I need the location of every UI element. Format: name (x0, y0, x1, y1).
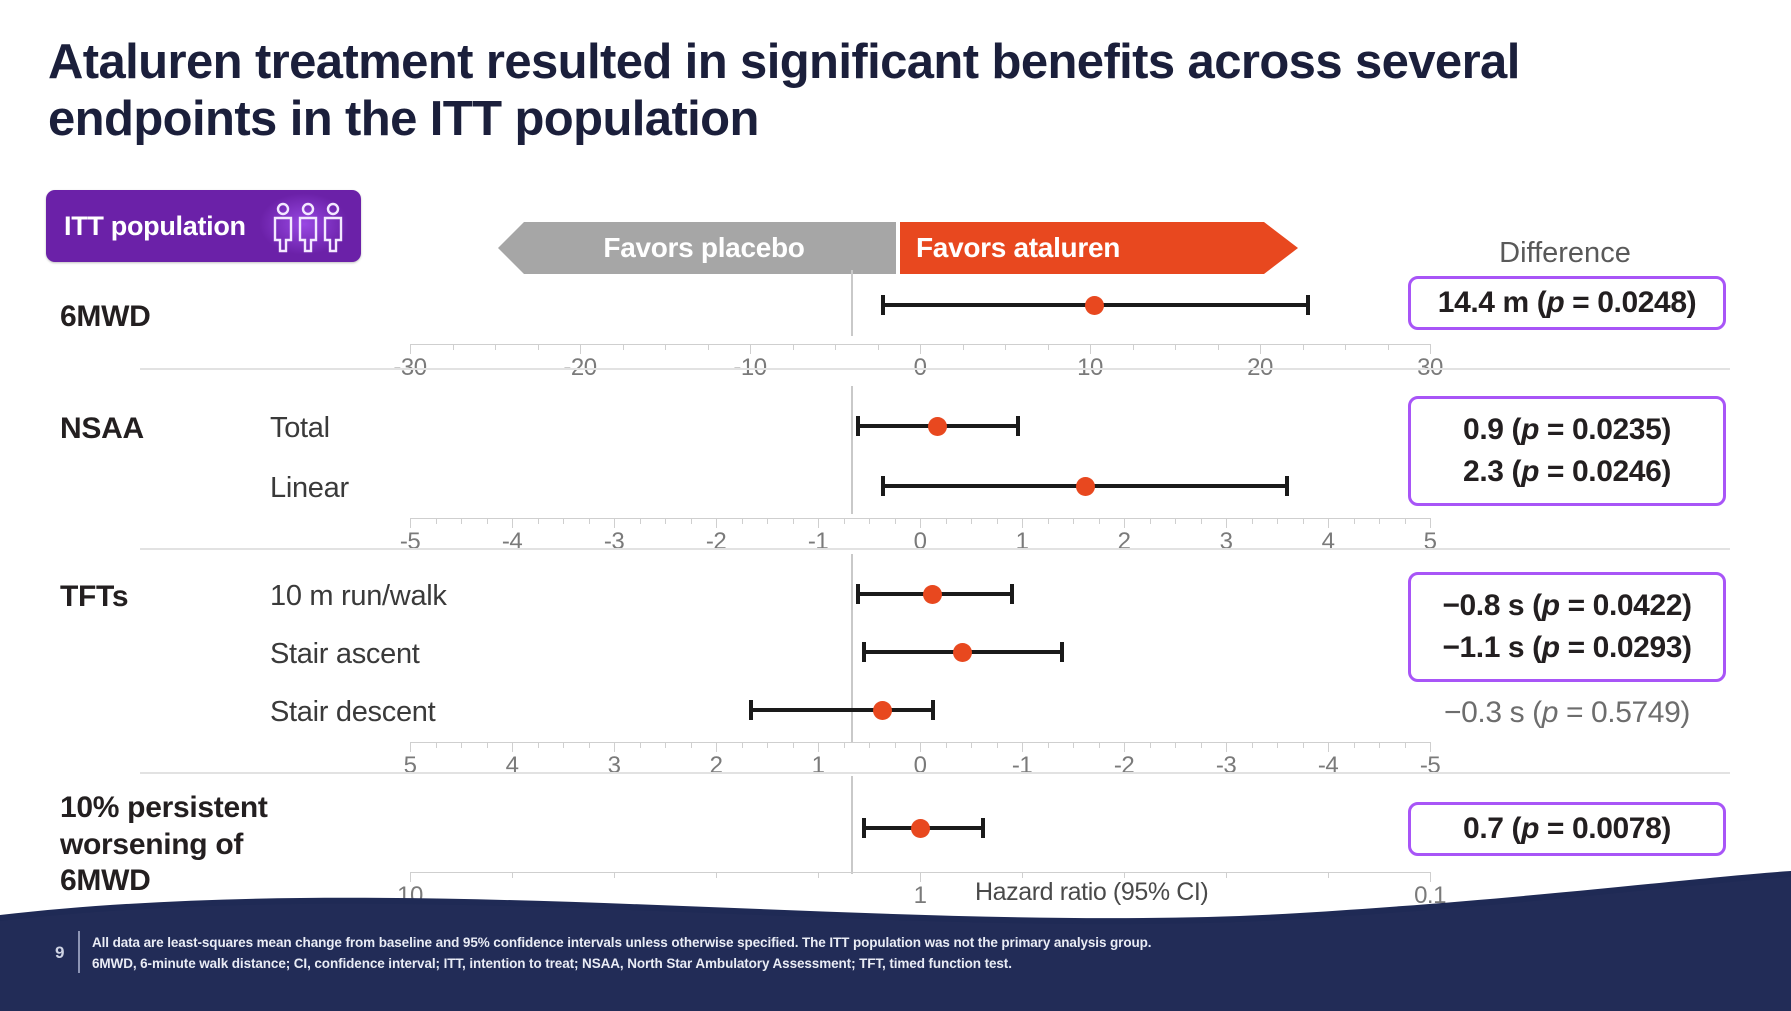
difference-value-6mwd: 14.4 m (p = 0.0248) (1438, 286, 1696, 320)
axis-minor-tick (538, 742, 539, 748)
favors-placebo-arrow: Favors placebo (498, 222, 896, 274)
axis-minor-tick (767, 518, 768, 524)
axis-minor-tick (971, 742, 972, 748)
axis-minor-tick (495, 344, 496, 350)
axis-minor-tick (971, 518, 972, 524)
reference-line (851, 776, 853, 874)
axis-minor-tick (1379, 742, 1380, 748)
axis-minor-tick (946, 742, 947, 748)
point-estimate-marker (923, 585, 942, 604)
axis-minor-tick (1150, 742, 1151, 748)
axis-tick-label: -5 (1420, 752, 1440, 780)
axis-minor-tick (1277, 742, 1278, 748)
axis-tick-label: 2 (710, 752, 723, 780)
axis-minor-tick (844, 518, 845, 524)
axis-tick-label: 2 (1118, 528, 1131, 556)
axis-tick (1226, 518, 1227, 528)
axis-minor-tick (835, 344, 836, 350)
axis-minor-tick (1175, 518, 1176, 524)
axis-minor-tick (640, 518, 641, 524)
axis-tick (512, 518, 513, 528)
difference-value-nsaa-total: 0.9 (p = 0.0235) (1463, 413, 1671, 447)
axis-minor-tick (869, 742, 870, 748)
difference-box-tfts: −0.8 s (p = 0.0422) −1.1 s (p = 0.0293) (1408, 572, 1726, 682)
section-separator-2 (140, 548, 1730, 550)
footnote: All data are least-squares mean change f… (92, 933, 1292, 975)
footnote-line-2: 6MWD, 6-minute walk distance; CI, confid… (92, 954, 1292, 975)
difference-box-hazard: 0.7 (p = 0.0078) (1408, 802, 1726, 856)
axis-tick-label: -2 (1114, 752, 1134, 780)
section-separator-1 (140, 368, 1730, 370)
axis-tick-label: -5 (400, 528, 420, 556)
zero-line (851, 554, 853, 742)
axis-tick-label: 0 (914, 528, 927, 556)
axis-minor-tick (878, 344, 879, 350)
axis-minor-tick (742, 742, 743, 748)
axis-minor-tick (1405, 742, 1406, 748)
axis-tick-label: -1 (808, 528, 828, 556)
ci-cap-low (749, 700, 753, 720)
axis-tick (1328, 742, 1329, 752)
axis-tick (716, 518, 717, 528)
axis-tick (1124, 518, 1125, 528)
ci-cap-low (856, 584, 860, 604)
axis-tick-label: -3 (1216, 752, 1236, 780)
axis-tick-label: 0 (914, 752, 927, 780)
axis-minor-tick (1218, 344, 1219, 350)
category-label-tfts: TFTs (60, 580, 128, 614)
ci-cap-high (1306, 295, 1310, 315)
slide: Ataluren treatment resulted in significa… (0, 0, 1791, 1011)
axis-minor-tick (1303, 344, 1304, 350)
axis-minor-tick (1405, 518, 1406, 524)
axis-minor-tick (793, 344, 794, 350)
axis-tick-label: 4 (1322, 528, 1335, 556)
axis-minor-tick (1048, 518, 1049, 524)
footnote-line-1: All data are least-squares mean change f… (92, 933, 1292, 954)
axis-minor-tick (946, 518, 947, 524)
axis-tick (1226, 742, 1227, 752)
axis-tick (1260, 344, 1261, 354)
axis-tick (818, 742, 819, 752)
axis-minor-tick (1354, 518, 1355, 524)
axis-minor-tick (487, 518, 488, 524)
axis-minor-tick (461, 518, 462, 524)
axis-minor-tick (1150, 518, 1151, 524)
axis-minor-tick (793, 742, 794, 748)
point-estimate-marker (1085, 296, 1104, 315)
itt-badge-label: ITT population (64, 211, 246, 242)
ci-bar (749, 708, 935, 712)
ci-cap-high (981, 818, 985, 838)
ci-cap-high (1060, 642, 1064, 662)
axis-minor-tick (742, 518, 743, 524)
axis-minor-tick (1379, 518, 1380, 524)
axis-tick-label: 5 (1424, 528, 1437, 556)
axis-tick (614, 518, 615, 528)
axis-minor-tick (997, 742, 998, 748)
axis-minor-tick (997, 518, 998, 524)
axis-minor-tick (844, 742, 845, 748)
forest-plot-6mwd (410, 280, 1430, 330)
axis-tick-label: 5 (404, 752, 417, 780)
axis-minor-tick (538, 518, 539, 524)
point-estimate-marker (953, 643, 972, 662)
axis-minor-tick (1277, 518, 1278, 524)
category-label-nsaa: NSAA (60, 412, 144, 446)
footer-divider (78, 931, 80, 973)
axis-minor-tick (1303, 518, 1304, 524)
axis-tick (716, 742, 717, 752)
category-label-6mwd: 6MWD (60, 300, 150, 334)
row-label-nsaa-total: Total (270, 412, 330, 445)
axis-minor-tick (1133, 344, 1134, 350)
difference-value-stair-ascent: −1.1 s (p = 0.0293) (1442, 631, 1691, 665)
axis-minor-tick (708, 344, 709, 350)
axis-tick (1430, 742, 1431, 752)
axis-tick-label: 1 (1016, 528, 1029, 556)
difference-value-nsaa-linear: 2.3 (p = 0.0246) (1463, 455, 1671, 489)
axis-minor-tick (563, 518, 564, 524)
three-people-icon (269, 199, 347, 253)
axis-minor-tick (1073, 742, 1074, 748)
axis-minor-tick (436, 518, 437, 524)
ci-cap-high (1010, 584, 1014, 604)
axis-minor-tick (563, 742, 564, 748)
axis-tick (1430, 518, 1431, 528)
ci-cap-low (856, 416, 860, 436)
axis-minor-tick (453, 344, 454, 350)
forest-plot-hazard (410, 780, 1430, 870)
axis-minor-tick (1099, 742, 1100, 748)
axis-minor-tick (1099, 518, 1100, 524)
axis-minor-tick (1073, 518, 1074, 524)
axis-minor-tick (1252, 742, 1253, 748)
axis-tick-label: -4 (1318, 752, 1338, 780)
axis-minor-tick (640, 742, 641, 748)
axis-tick (920, 344, 921, 354)
axis-minor-tick (461, 742, 462, 748)
axis-minor-tick (665, 344, 666, 350)
axis-minor-tick (1354, 742, 1355, 748)
axis-minor-tick (1201, 742, 1202, 748)
page-title: Ataluren treatment resulted in significa… (48, 34, 1708, 149)
axis-minor-tick (487, 742, 488, 748)
axis-tick-label: 1 (812, 752, 825, 780)
axis-tick (920, 742, 921, 752)
forest-plot-nsaa (410, 392, 1430, 512)
axis-minor-tick (665, 518, 666, 524)
axis-tick (410, 742, 411, 752)
axis-minor-tick (895, 518, 896, 524)
axis-tick-label: -2 (706, 528, 726, 556)
difference-box-6mwd: 14.4 m (p = 0.0248) (1408, 276, 1726, 330)
axis-minor-tick (1252, 518, 1253, 524)
axis-minor-tick (1048, 344, 1049, 350)
axis-tick (1124, 742, 1125, 752)
itt-population-badge: ITT population (46, 190, 361, 262)
axis-tick-label: 4 (506, 752, 519, 780)
point-estimate-marker (928, 417, 947, 436)
difference-value-stair-descent: −0.3 s (p = 0.5749) (1408, 696, 1726, 730)
axis-minor-tick (691, 518, 692, 524)
difference-column-header: Difference (1400, 237, 1730, 270)
difference-box-nsaa: 0.9 (p = 0.0235) 2.3 (p = 0.0246) (1408, 396, 1726, 506)
axis-minor-tick (767, 742, 768, 748)
zero-line (851, 270, 853, 336)
page-number: 9 (55, 943, 64, 963)
ci-cap-high (1016, 416, 1020, 436)
axis-tick (1430, 344, 1431, 354)
favors-ataluren-arrow: Favors ataluren (900, 222, 1298, 274)
axis-minor-tick (1303, 742, 1304, 748)
axis-tick (750, 344, 751, 354)
ci-cap-high (931, 700, 935, 720)
axis-tick-label: 3 (1220, 528, 1233, 556)
axis-minor-tick (665, 742, 666, 748)
axis-minor-tick (1201, 518, 1202, 524)
ci-cap-low (862, 642, 866, 662)
row-label-stair-ascent: Stair ascent (270, 638, 420, 671)
ci-cap-high (1285, 476, 1289, 496)
point-estimate-marker (1076, 477, 1095, 496)
axis-minor-tick (1388, 344, 1389, 350)
axis-minor-tick (623, 344, 624, 350)
axis-tick (1022, 742, 1023, 752)
axis-minor-tick (869, 518, 870, 524)
axis-minor-tick (691, 742, 692, 748)
axis-minor-tick (1175, 742, 1176, 748)
axis-minor-tick (1175, 344, 1176, 350)
axis-tick-label: 3 (608, 752, 621, 780)
zero-line (851, 386, 853, 514)
axis-tick (1022, 518, 1023, 528)
axis-minor-tick (963, 344, 964, 350)
point-estimate-marker (911, 819, 930, 838)
section-separator-3 (140, 772, 1730, 774)
row-label-nsaa-linear: Linear (270, 472, 349, 505)
axis-tick (920, 518, 921, 528)
axis-tick (512, 742, 513, 752)
axis-minor-tick (589, 742, 590, 748)
axis-minor-tick (895, 742, 896, 748)
axis-minor-tick (538, 344, 539, 350)
axis-minor-tick (1048, 742, 1049, 748)
axis-tick (580, 344, 581, 354)
ci-cap-low (881, 476, 885, 496)
axis-tick (410, 344, 411, 354)
forest-plot-tfts (410, 560, 1430, 740)
axis-tick (614, 742, 615, 752)
axis-tick-label: -4 (502, 528, 522, 556)
axis-tick (818, 518, 819, 528)
axis-tick (1090, 344, 1091, 354)
difference-value-hazard: 0.7 (p = 0.0078) (1463, 812, 1671, 846)
axis-minor-tick (1005, 344, 1006, 350)
axis-minor-tick (793, 518, 794, 524)
axis-minor-tick (1345, 344, 1346, 350)
axis-tick (410, 518, 411, 528)
axis-minor-tick (436, 742, 437, 748)
point-estimate-marker (873, 701, 892, 720)
axis-tick-label: -1 (1012, 752, 1032, 780)
difference-value-run-walk: −0.8 s (p = 0.0422) (1442, 589, 1691, 623)
axis-tick (1328, 518, 1329, 528)
axis-minor-tick (589, 518, 590, 524)
ci-cap-low (862, 818, 866, 838)
axis-tick-label: -3 (604, 528, 624, 556)
ci-cap-low (881, 295, 885, 315)
